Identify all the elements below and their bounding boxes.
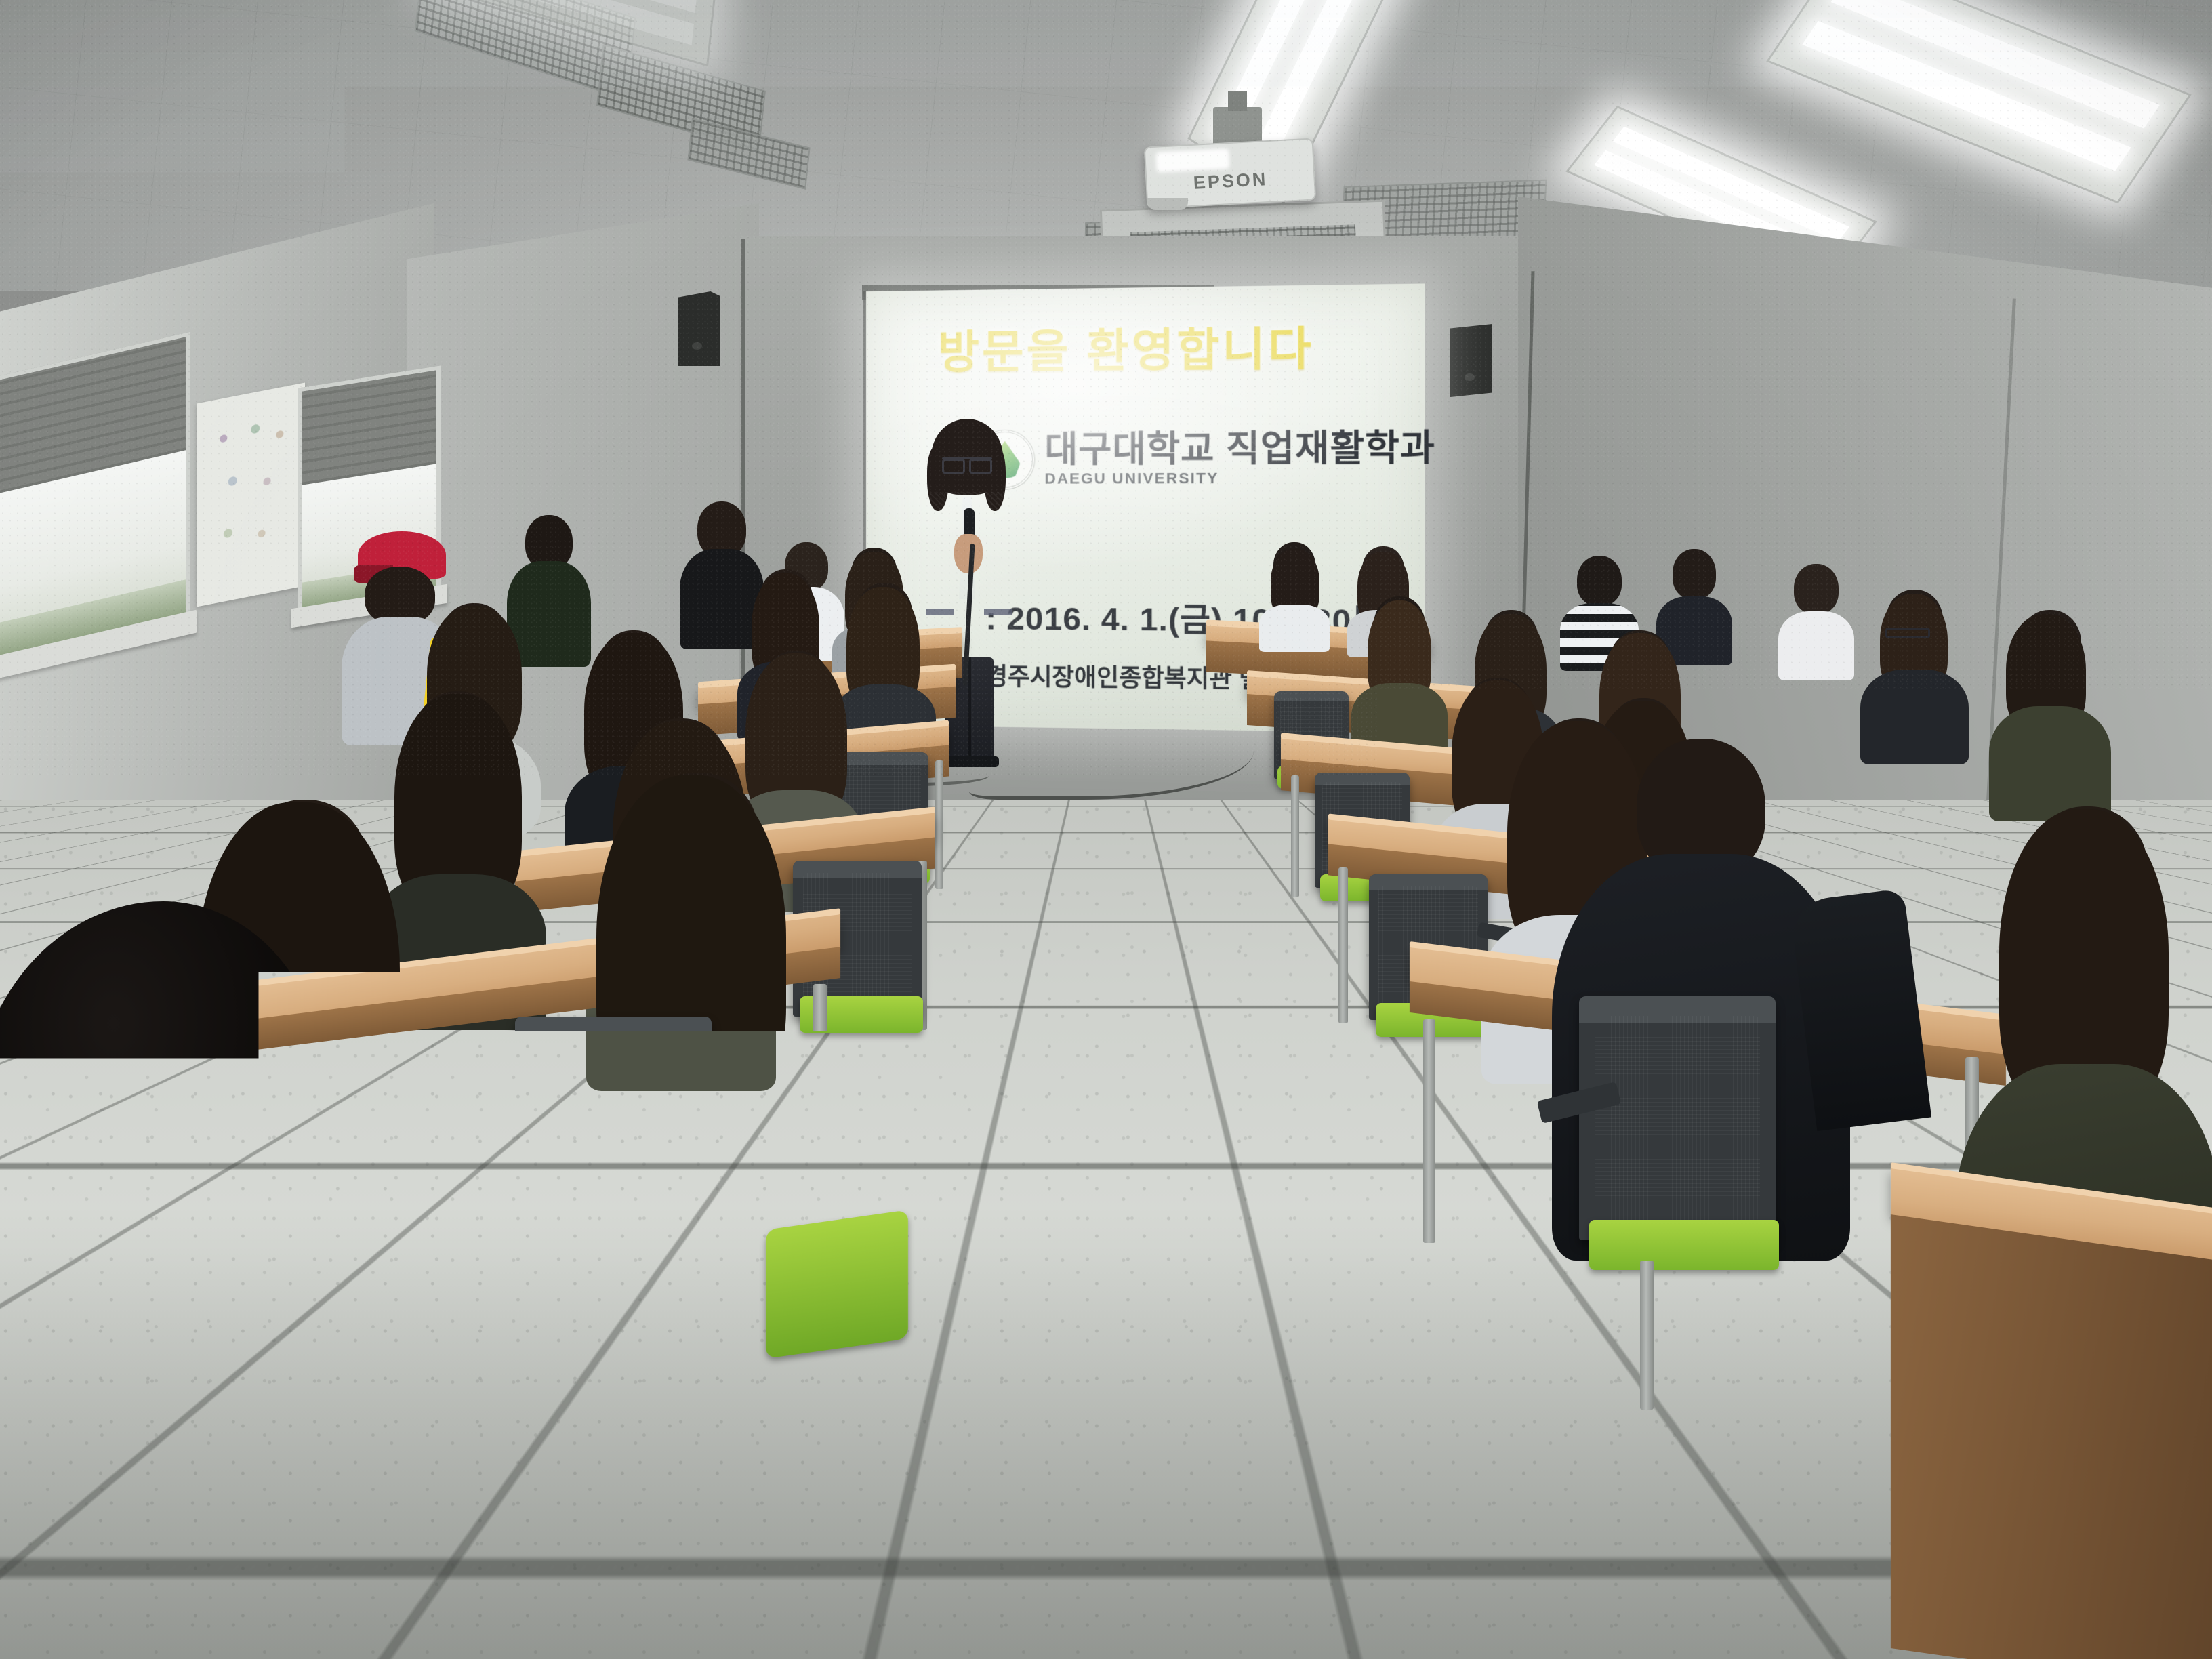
list-item (1257, 542, 1332, 644)
desk-leg (1291, 775, 1299, 897)
desk-leg (1338, 867, 1348, 1023)
poster-artwork (205, 401, 296, 589)
chair-post (1640, 1261, 1654, 1410)
eyeglasses-icon (1885, 628, 1930, 638)
lecture-room-photo: EPSON 방문을 환영합니다 대구대학교 직업 (0, 0, 2212, 1659)
list-item (1776, 564, 1857, 679)
chair-seat[interactable] (1589, 1220, 1779, 1270)
desk-leg (1423, 1019, 1435, 1243)
presenter-jacket-pocket (984, 609, 1012, 615)
attendee-top (1989, 706, 2111, 821)
foreground-attendee-ear (197, 1193, 255, 1273)
list-item (1986, 610, 2114, 813)
foreground-attendee (0, 901, 393, 1659)
chair-seat[interactable] (766, 1210, 908, 1359)
list-item (1857, 590, 1972, 759)
projector-lens-icon (1147, 198, 1188, 210)
wall-speaker-left (678, 291, 720, 366)
attendee-head (1673, 549, 1716, 599)
wall-poster (197, 382, 305, 607)
wall-speaker-right (1450, 324, 1492, 397)
chair[interactable] (1579, 996, 1776, 1240)
attendee-top (1778, 611, 1854, 680)
eyeglasses-icon (942, 457, 992, 468)
desk-leg (935, 760, 943, 889)
projector-highlight (1155, 148, 1230, 173)
attendee-head (1577, 556, 1622, 606)
brochure-leaf-icon (333, 1290, 411, 1351)
attendee-top (1259, 605, 1330, 652)
lanyard-cord (128, 1586, 226, 1659)
foreground-attendee-hair (0, 901, 325, 1308)
attendee-head (1794, 564, 1839, 614)
attendee-top (1860, 670, 1969, 764)
